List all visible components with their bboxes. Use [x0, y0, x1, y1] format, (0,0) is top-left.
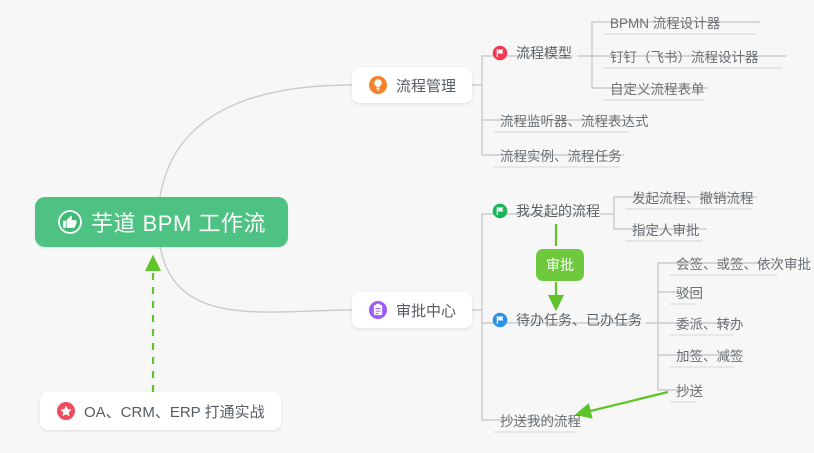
leaf-reject[interactable]: 驳回 [670, 278, 709, 306]
leaf-delegate-transfer[interactable]: 委派、转办 [670, 309, 750, 337]
leaf-label: 抄送 [676, 380, 703, 400]
leaf-label: 加签、减签 [676, 345, 744, 365]
bottom-note-node[interactable]: OA、CRM、ERP 打通实战 [40, 392, 281, 430]
leaf-label: 指定人审批 [632, 219, 700, 239]
leaf-label: 会签、或签、依次审批 [676, 253, 811, 273]
branch-process-management[interactable]: 流程管理 [352, 67, 472, 103]
branch-label: 审批中心 [396, 300, 456, 321]
mindmap-canvas: 芋道 BPM 工作流 流程管理 流程模型 BPMN 流程设计器 钉钉（飞书）流程 [0, 0, 814, 453]
root-node[interactable]: 芋道 BPM 工作流 [35, 197, 288, 247]
clipboard-icon [368, 300, 388, 320]
root-label: 芋道 BPM 工作流 [91, 206, 266, 238]
branch-label: 流程管理 [396, 75, 456, 96]
leaf-label: BPMN 流程设计器 [610, 12, 720, 32]
leaf-label: 委派、转办 [676, 313, 744, 333]
node-my-initiated[interactable]: 我发起的流程 [492, 201, 600, 221]
leaf-instance-task[interactable]: 流程实例、流程任务 [494, 141, 628, 169]
lightbulb-icon [368, 75, 388, 95]
leaf-add-remove-sign[interactable]: 加签、减签 [670, 341, 750, 369]
leaf-label: 驳回 [676, 282, 703, 302]
leaf-bpmn-designer[interactable]: BPMN 流程设计器 [604, 8, 726, 36]
leaf-multi-sign[interactable]: 会签、或签、依次审批 [670, 249, 814, 277]
leaf-cc-to-me[interactable]: 抄送我的流程 [494, 406, 587, 434]
flag-icon [492, 312, 508, 328]
leaf-cc[interactable]: 抄送 [670, 376, 709, 404]
leaf-label: 自定义流程表单 [610, 78, 705, 98]
node-process-model[interactable]: 流程模型 [492, 43, 572, 63]
branch-approval-center[interactable]: 审批中心 [352, 292, 472, 328]
star-icon [56, 401, 76, 421]
node-label: 流程模型 [516, 43, 572, 63]
leaf-listener-expression[interactable]: 流程监听器、流程表达式 [494, 106, 655, 134]
leaf-label: 流程实例、流程任务 [500, 145, 622, 165]
node-label: 待办任务、已办任务 [516, 310, 642, 330]
node-todo-done[interactable]: 待办任务、已办任务 [492, 310, 642, 330]
leaf-assignee-approval[interactable]: 指定人审批 [626, 215, 706, 243]
leaf-dingtalk-feishu-designer[interactable]: 钉钉（飞书）流程设计器 [604, 42, 765, 70]
leaf-custom-process-form[interactable]: 自定义流程表单 [604, 74, 711, 102]
node-label: 我发起的流程 [516, 201, 600, 221]
leaf-start-cancel[interactable]: 发起流程、撤销流程 [626, 183, 760, 211]
leaf-label: 发起流程、撤销流程 [632, 187, 754, 207]
thumbs-up-icon [57, 209, 83, 235]
leaf-label: 钉钉（飞书）流程设计器 [610, 46, 759, 66]
leaf-label: 抄送我的流程 [500, 410, 581, 430]
pill-label: 审批 [546, 255, 574, 275]
flag-icon [492, 203, 508, 219]
bottom-note-label: OA、CRM、ERP 打通实战 [84, 401, 265, 422]
leaf-label: 流程监听器、流程表达式 [500, 110, 649, 130]
flag-icon [492, 45, 508, 61]
approval-annotation-pill[interactable]: 审批 [536, 249, 584, 281]
